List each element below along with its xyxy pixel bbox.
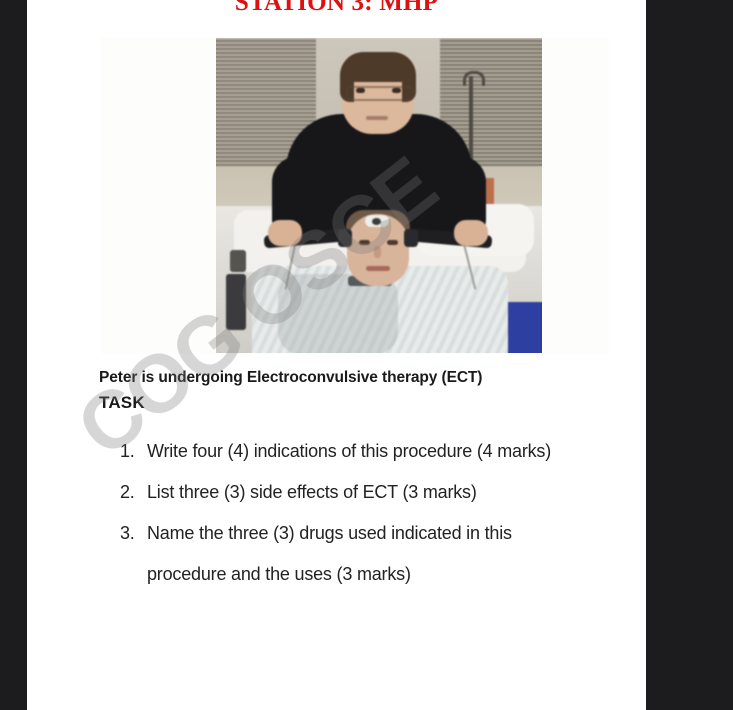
bedrail-equipment-upper xyxy=(230,250,246,272)
page-title: STATION 3: MHP xyxy=(27,0,646,17)
list-item-number: 3. xyxy=(120,513,135,554)
patient-eye-right xyxy=(387,240,398,245)
clinician-mouth xyxy=(366,116,388,120)
figure-container xyxy=(101,37,609,354)
list-item: 3. Name the three (3) drugs used indicat… xyxy=(120,513,620,595)
list-item-number: 2. xyxy=(120,472,135,513)
patient-eye-left xyxy=(359,240,370,245)
clinician-hand-right xyxy=(454,220,488,246)
list-item-text: Write four (4) indications of this proce… xyxy=(147,431,577,472)
clinician-eye-left xyxy=(356,88,365,93)
iv-pole-hook-icon xyxy=(463,71,485,86)
task-list: 1. Write four (4) indications of this pr… xyxy=(120,431,620,595)
list-item-text: Name the three (3) drugs used indicated … xyxy=(147,513,577,595)
clinician-eye-right xyxy=(392,88,401,93)
ect-paddle-tip-right xyxy=(404,229,418,247)
figure-caption: Peter is undergoing Electroconvulsive th… xyxy=(99,367,619,388)
clinician-hand-left xyxy=(268,220,302,246)
patient-mouth xyxy=(366,266,390,271)
document-page: STATION 3: MHP xyxy=(27,0,646,710)
list-item-number: 1. xyxy=(120,431,135,472)
task-heading: TASK xyxy=(99,393,145,413)
ect-procedure-photo xyxy=(216,38,542,353)
bedrail-equipment xyxy=(226,274,246,330)
list-item-text: List three (3) side effects of ECT (3 ma… xyxy=(147,472,577,513)
ect-paddle-tip-left xyxy=(338,229,352,247)
forehead-electrode xyxy=(372,218,381,225)
list-item: 2. List three (3) side effects of ECT (3… xyxy=(120,472,620,513)
list-item: 1. Write four (4) indications of this pr… xyxy=(120,431,620,472)
screenshot-viewport: STATION 3: MHP xyxy=(0,0,733,710)
patient-nose xyxy=(374,246,381,258)
